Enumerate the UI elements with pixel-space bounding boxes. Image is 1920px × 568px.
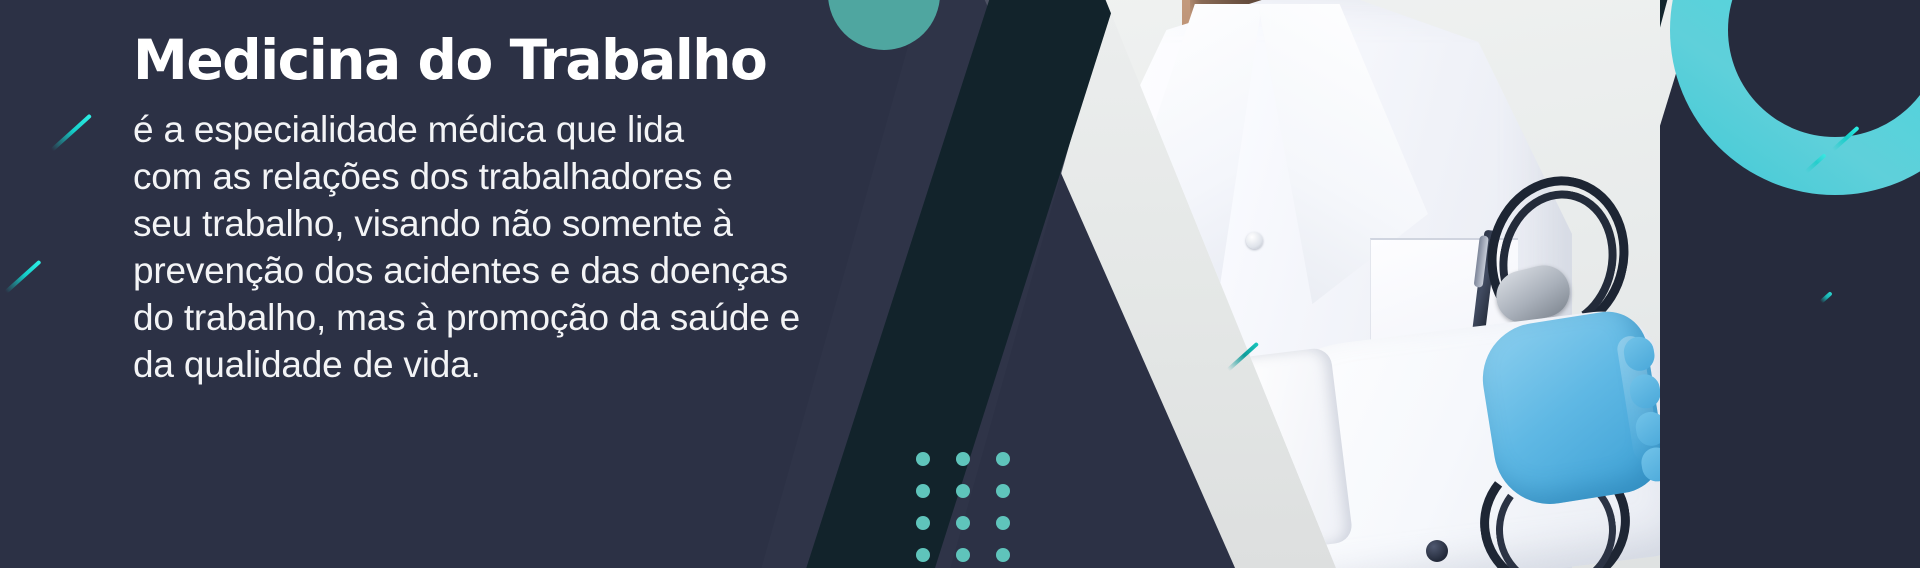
grid-dot: [956, 484, 970, 498]
grid-dot: [916, 452, 930, 466]
body-line: é a especialidade médica que lida: [133, 106, 933, 153]
grid-dot: [996, 484, 1010, 498]
page-title: Medicina do Trabalho: [133, 30, 933, 92]
grid-dot: [916, 516, 930, 530]
grid-dot: [956, 548, 970, 562]
grid-dot: [956, 452, 970, 466]
dot-grid-decoration: [916, 452, 1010, 562]
body-line: com as relações dos trabalhadores e: [133, 153, 933, 200]
glove-finger: [1639, 445, 1660, 483]
grid-dot: [916, 548, 930, 562]
body-line: prevenção dos acidentes e das doenças: [133, 247, 933, 294]
photo-clip: [940, 0, 1660, 568]
text-block: Medicina do Trabalho é a especialidade m…: [133, 30, 933, 388]
grid-dot: [996, 516, 1010, 530]
grid-dot: [996, 548, 1010, 562]
medicina-do-trabalho-banner: Medicina do Trabalho é a especialidade m…: [0, 0, 1920, 568]
glove-finger: [1628, 372, 1660, 410]
grid-dot: [956, 516, 970, 530]
body-line: do trabalho, mas à promoção da saúde e: [133, 294, 933, 341]
grid-dot: [996, 452, 1010, 466]
body-paragraph: é a especialidade médica que lida com as…: [133, 106, 933, 388]
body-line: da qualidade de vida.: [133, 341, 933, 388]
coat-button-lower: [1426, 540, 1448, 562]
doctor-photo: [940, 0, 1660, 568]
body-line: seu trabalho, visando não somente à: [133, 200, 933, 247]
glove-finger: [1634, 410, 1660, 448]
coat-button: [1246, 232, 1263, 249]
grid-dot: [916, 484, 930, 498]
